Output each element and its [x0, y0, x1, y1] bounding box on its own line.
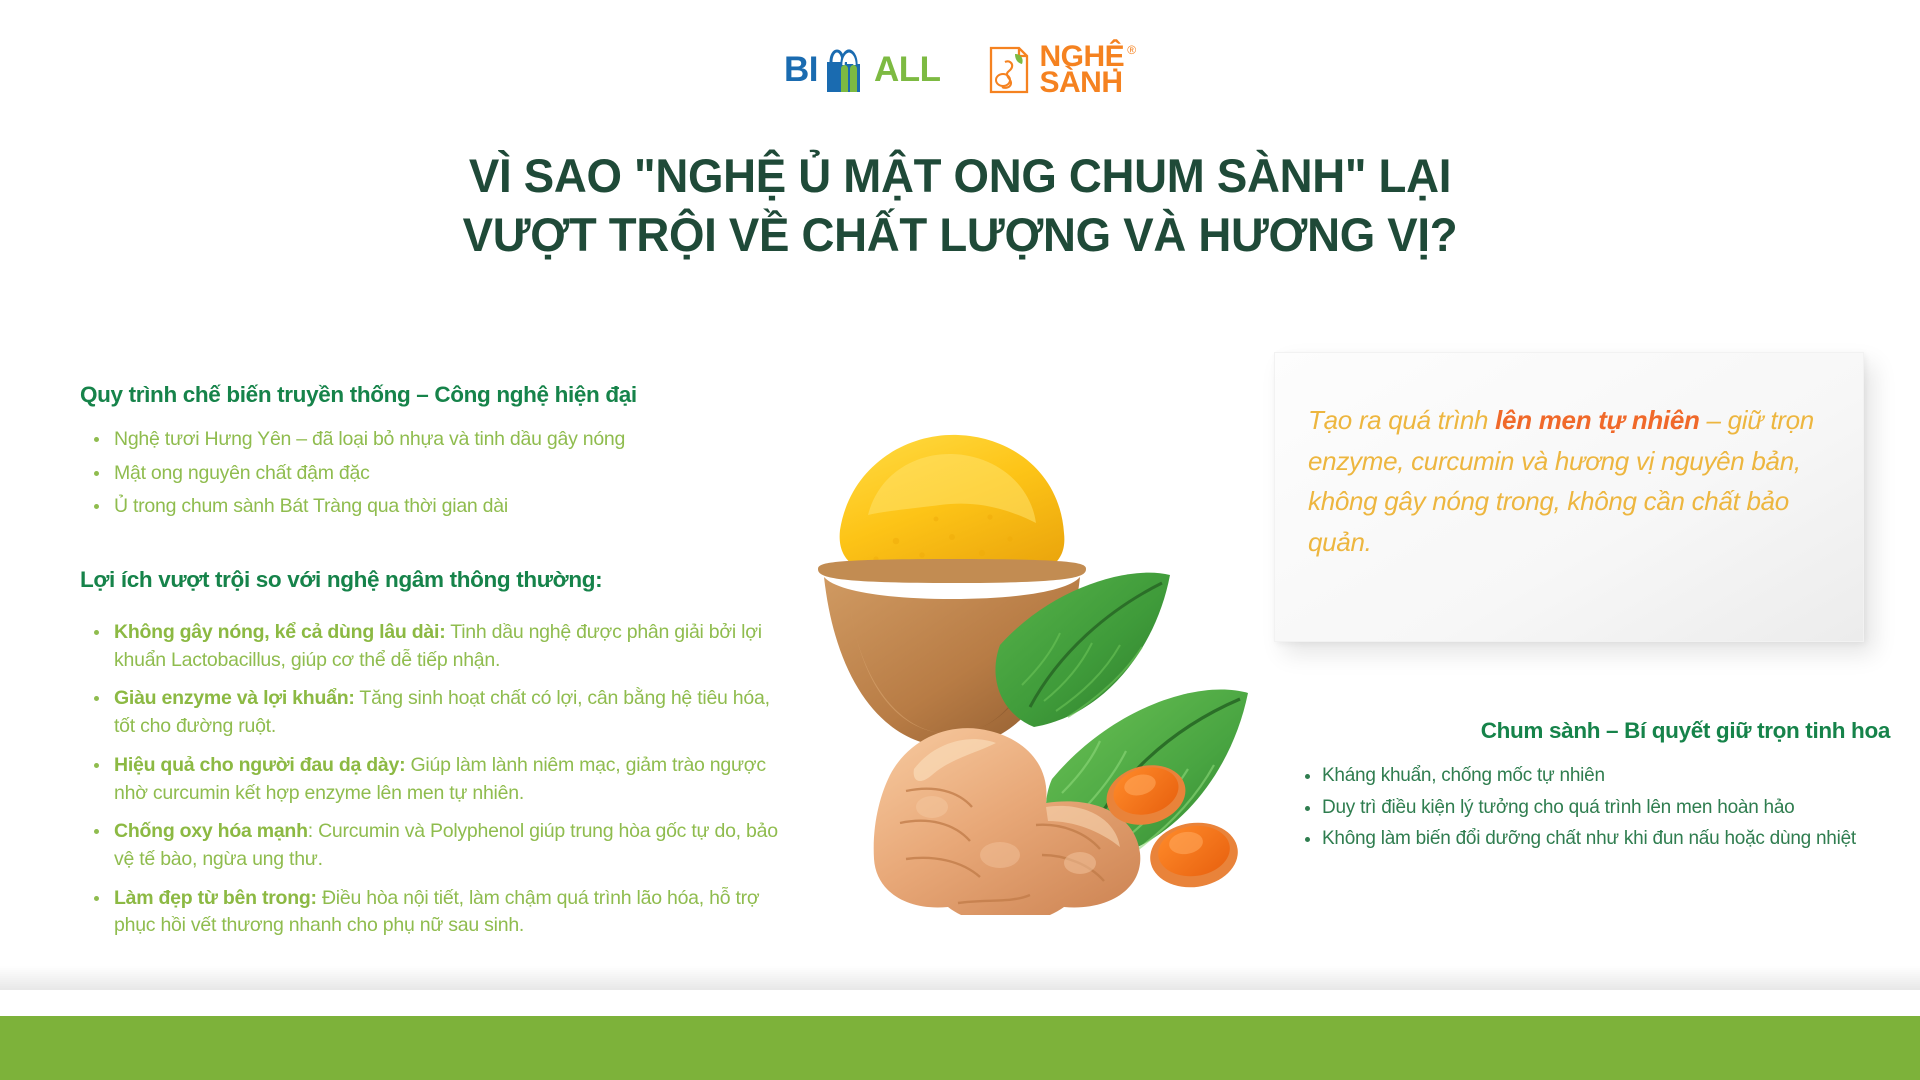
- ceramic-jar-bullet-list: Kháng khuẩn, chống mốc tự nhiên Duy trì …: [1298, 764, 1890, 852]
- footer-white-strip: [0, 990, 1920, 1018]
- bimall-logo-text-bi: BI: [784, 50, 818, 90]
- nghesanh-logo: NGHỆ ® SÀNH: [987, 44, 1137, 96]
- shopping-bag-icon: [818, 42, 874, 98]
- infographic-page: BI ALL: [0, 0, 1920, 1080]
- list-item-lead: Giàu enzyme và lợi khuẩn:: [114, 687, 355, 709]
- list-item: Không gây nóng, kể cả dùng lâu dài: Tinh…: [80, 619, 780, 674]
- quote-text: Tạo ra quá trình lên men tự nhiên – giữ …: [1308, 400, 1848, 562]
- footer-green-bar: [0, 1016, 1920, 1080]
- page-title-line-2: VƯỢT TRỘI VỀ CHẤT LƯỢNG VÀ HƯƠNG VỊ?: [29, 205, 1891, 264]
- process-bullet-list: Nghệ tươi Hưng Yên – đã loại bỏ nhựa và …: [80, 426, 780, 521]
- quote-emphasis: lên men tự nhiên: [1495, 405, 1699, 435]
- turmeric-jar-icon: [987, 44, 1031, 96]
- list-item-lead: Chống oxy hóa mạnh: [114, 820, 308, 842]
- turmeric-bowl-and-root-illustration: [700, 355, 1300, 915]
- logo-row: BI ALL: [0, 42, 1920, 98]
- list-item: Không làm biến đổi dưỡng chất như khi đu…: [1298, 827, 1890, 852]
- section-traditional-process: Quy trình chế biến truyền thống – Công n…: [80, 382, 780, 521]
- footer-shadow-divider: [0, 966, 1920, 992]
- section-benefits: Lợi ích vượt trội so với nghệ ngâm thông…: [80, 567, 780, 940]
- list-item-lead: Không gây nóng, kể cả dùng lâu dài:: [114, 621, 445, 643]
- benefits-bullet-list: Không gây nóng, kể cả dùng lâu dài: Tinh…: [80, 619, 780, 940]
- list-item: Kháng khuẩn, chống mốc tự nhiên: [1298, 764, 1890, 789]
- page-title: VÌ SAO "NGHỆ Ủ MẬT ONG CHUM SÀNH" LẠI VƯ…: [0, 146, 1920, 264]
- list-item: Nghệ tươi Hưng Yên – đã loại bỏ nhựa và …: [80, 426, 780, 454]
- list-item-lead: Hiệu quả cho người đau dạ dày:: [114, 754, 405, 776]
- list-item: Hiệu quả cho người đau dạ dày: Giúp làm …: [80, 752, 780, 807]
- quote-part-1: Tạo ra quá trình: [1308, 405, 1495, 435]
- list-item: Mật ong nguyên chất đậm đặc: [80, 460, 780, 488]
- registered-mark-icon: ®: [1127, 45, 1136, 55]
- list-item-lead: Làm đẹp từ bên trong:: [114, 887, 317, 909]
- list-item: Làm đẹp từ bên trong: Điều hòa nội tiết,…: [80, 885, 780, 940]
- list-item: Duy trì điều kiện lý tưởng cho quá trình…: [1298, 796, 1890, 821]
- page-title-line-1: VÌ SAO "NGHỆ Ủ MẬT ONG CHUM SÀNH" LẠI: [29, 146, 1891, 205]
- list-item: Ủ trong chum sành Bát Tràng qua thời gia…: [80, 493, 780, 521]
- nghesanh-logo-line2: SÀNH: [1040, 70, 1137, 96]
- section-heading-traditional-process: Quy trình chế biến truyền thống – Công n…: [80, 382, 780, 408]
- section-heading-benefits: Lợi ích vượt trội so với nghệ ngâm thông…: [80, 567, 780, 593]
- bimall-logo-text-all: ALL: [874, 50, 941, 90]
- left-column: Quy trình chế biến truyền thống – Công n…: [80, 382, 780, 951]
- nghesanh-logo-wordmark: NGHỆ ® SÀNH: [1040, 44, 1137, 96]
- bimall-logo: BI ALL: [784, 42, 941, 98]
- list-item: Giàu enzyme và lợi khuẩn: Tăng sinh hoạt…: [80, 685, 780, 740]
- list-item: Chống oxy hóa mạnh: Curcumin và Polyphen…: [80, 818, 780, 873]
- section-ceramic-jar: Chum sành – Bí quyết giữ trọn tinh hoa K…: [1270, 718, 1890, 859]
- section-heading-ceramic-jar: Chum sành – Bí quyết giữ trọn tinh hoa: [1270, 718, 1890, 744]
